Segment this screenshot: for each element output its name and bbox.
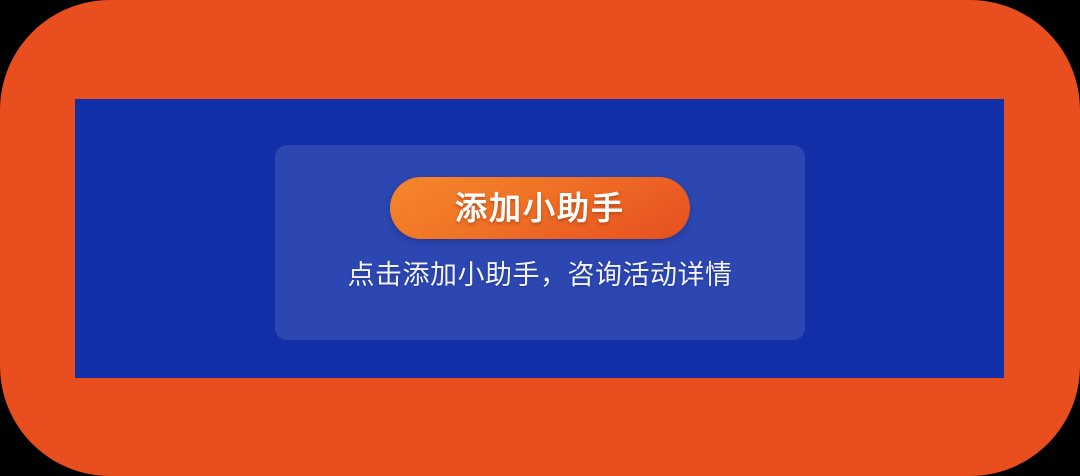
promo-banner-stage: 添加小助手 点击添加小助手，咨询活动详情: [0, 0, 1080, 476]
promo-subtitle: 点击添加小助手，咨询活动详情: [348, 262, 733, 289]
promo-card: 添加小助手 点击添加小助手，咨询活动详情: [275, 145, 805, 340]
promo-panel: 添加小助手 点击添加小助手，咨询活动详情: [75, 99, 1004, 378]
add-assistant-button[interactable]: 添加小助手: [390, 177, 690, 239]
add-assistant-button-label: 添加小助手: [455, 192, 625, 224]
